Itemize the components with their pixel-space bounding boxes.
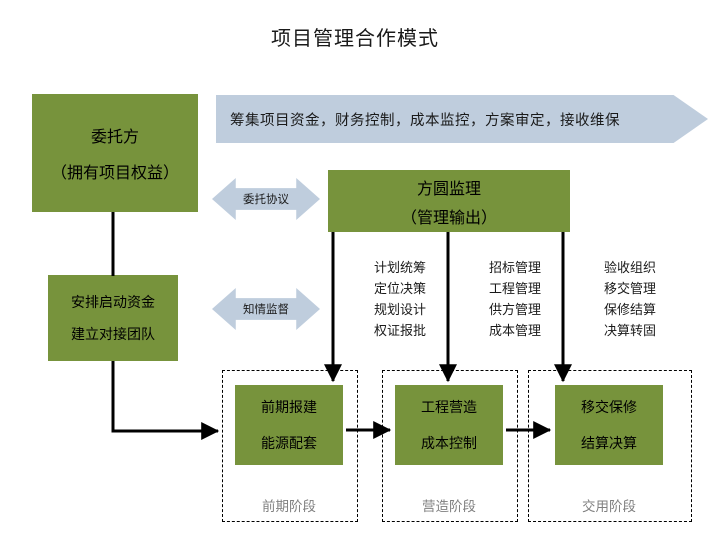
service-column-0: 计划统筹 定位决策 规划设计 权证报批	[350, 258, 450, 342]
box-client-line2: （拥有项目权益）	[51, 159, 179, 183]
page-title: 项目管理合作模式	[0, 22, 710, 51]
box-funding-line2: 建立对接团队	[71, 324, 155, 344]
double-arrow-oversight-label: 知情监督	[243, 301, 289, 317]
service-item: 规划设计	[350, 300, 450, 321]
box-stage-0-line2: 能源配套	[261, 433, 317, 453]
box-stage-1-line2: 成本控制	[421, 433, 477, 453]
double-arrow-oversight-icon: 知情监督	[212, 288, 320, 330]
service-item: 招标管理	[465, 258, 565, 279]
box-funding: 安排启动资金 建立对接团队	[48, 275, 178, 361]
box-supervisor-line2: （管理输出）	[401, 204, 497, 228]
box-supervisor: 方圆监理 （管理输出）	[328, 170, 570, 232]
box-client-line1: 委托方	[91, 123, 139, 147]
service-item: 计划统筹	[350, 258, 450, 279]
service-item: 决算转固	[580, 321, 680, 342]
box-funding-line1: 安排启动资金	[71, 292, 155, 312]
connector-funding-stage0	[113, 361, 218, 431]
box-stage-1-line1: 工程营造	[421, 397, 477, 417]
service-item: 移交管理	[580, 279, 680, 300]
service-column-2: 验收组织 移交管理 保修结算 决算转固	[580, 258, 680, 342]
box-stage-0-line1: 前期报建	[261, 397, 317, 417]
service-item: 定位决策	[350, 279, 450, 300]
box-supervisor-line1: 方圆监理	[417, 175, 481, 199]
diagram-canvas: 项目管理合作模式 筹集项目资金，财务控制，成本监控，方案审定，接收维保 委托方 …	[0, 0, 710, 555]
service-item: 供方管理	[465, 300, 565, 321]
service-item: 工程管理	[465, 279, 565, 300]
box-stage-2: 移交保修 结算决算	[555, 385, 663, 465]
responsibilities-banner: 筹集项目资金，财务控制，成本监控，方案审定，接收维保	[216, 95, 708, 143]
stage-label-1: 营造阶段	[382, 495, 516, 515]
service-item: 权证报批	[350, 321, 450, 342]
box-client: 委托方 （拥有项目权益）	[32, 94, 198, 212]
box-stage-2-line2: 结算决算	[581, 433, 637, 453]
box-stage-2-line1: 移交保修	[581, 397, 637, 417]
service-column-1: 招标管理 工程管理 供方管理 成本管理	[465, 258, 565, 342]
service-item: 成本管理	[465, 321, 565, 342]
banner-text: 筹集项目资金，财务控制，成本监控，方案审定，接收维保	[216, 109, 620, 130]
stage-label-2: 交用阶段	[528, 495, 690, 515]
double-arrow-agreement-label: 委托协议	[243, 191, 289, 207]
stage-label-0: 前期阶段	[222, 495, 356, 515]
service-item: 保修结算	[580, 300, 680, 321]
box-stage-1: 工程营造 成本控制	[395, 385, 503, 465]
box-stage-0: 前期报建 能源配套	[235, 385, 343, 465]
service-item: 验收组织	[580, 258, 680, 279]
double-arrow-agreement-icon: 委托协议	[212, 178, 320, 220]
